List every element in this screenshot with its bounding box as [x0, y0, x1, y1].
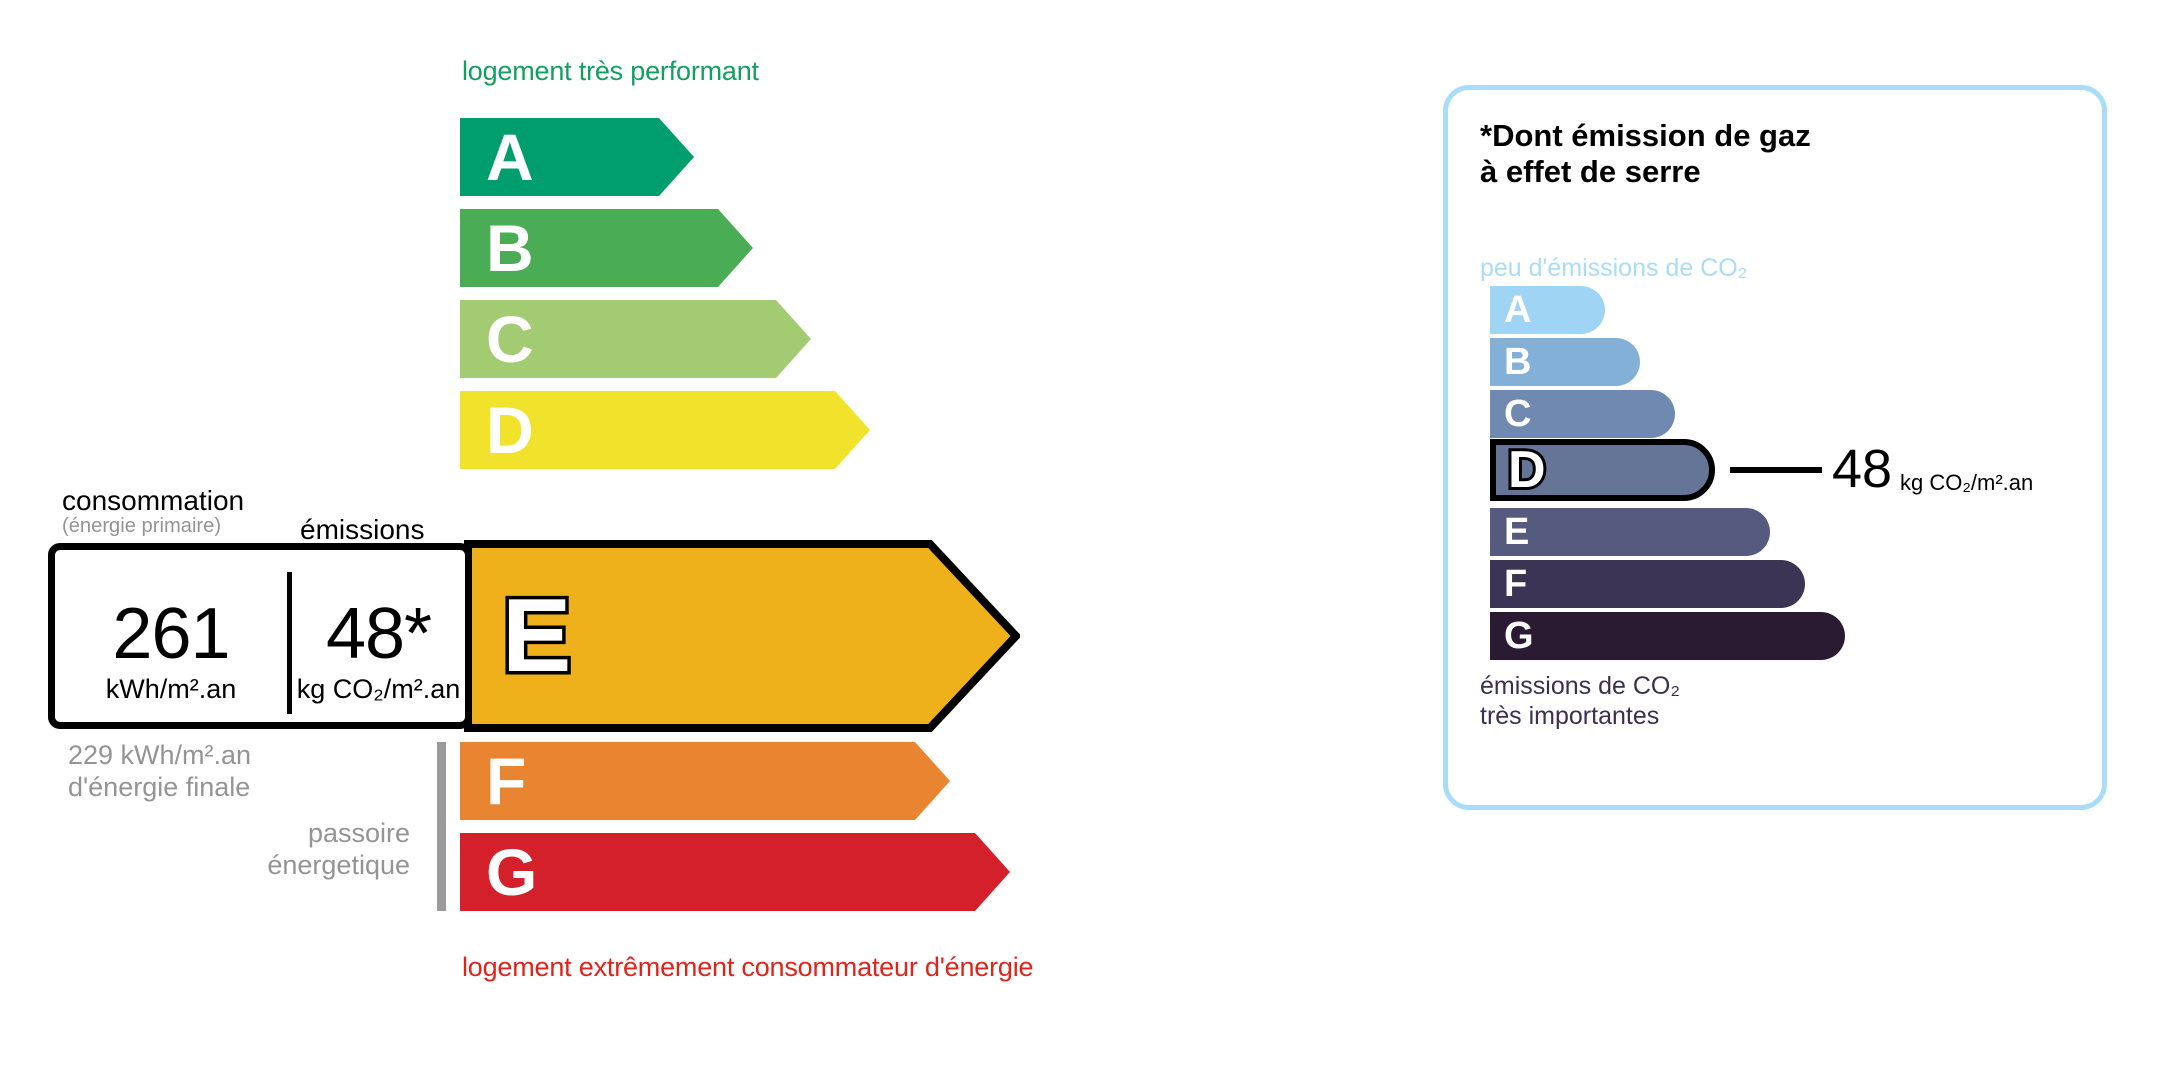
- passoire-line2: énergetique: [180, 850, 410, 882]
- energy-band-g: G: [460, 833, 1010, 911]
- energy-band-d: D: [460, 391, 870, 469]
- value-box-primary-energy: 261 kWh/m².an: [55, 550, 287, 722]
- co2-panel-title: *Dont émission de gaz à effet de serre: [1480, 118, 1811, 190]
- co2-callout-value: 48: [1832, 442, 1892, 496]
- energy-scale-section: logement très performant A B C: [0, 0, 1400, 1079]
- co2-bar-letter-b: B: [1504, 343, 1531, 381]
- final-energy-line1: 229 kWh/m².an: [68, 740, 251, 772]
- co2-title-line2: à effet de serre: [1480, 154, 1811, 190]
- co2-bar-letter-e: E: [1504, 513, 1529, 551]
- energy-band-c: C: [460, 300, 811, 378]
- co2-title-line1: *Dont émission de gaz: [1480, 118, 1811, 154]
- co2-bar-letter-f: F: [1504, 565, 1527, 603]
- passoire-label: passoire énergetique: [180, 818, 410, 882]
- primary-energy-value: 261: [55, 598, 287, 670]
- energy-band-letter-c: C: [486, 306, 534, 372]
- co2-bar-g: G: [1490, 612, 1845, 660]
- value-box-emissions: 48* kg CO₂/m².an: [292, 550, 465, 722]
- co2-bottom-caption-line2: très importantes: [1480, 702, 1680, 732]
- co2-panel: *Dont émission de gaz à effet de serre p…: [1443, 85, 2107, 810]
- energy-band-letter-e: E: [502, 584, 571, 688]
- energy-band-letter-g: G: [486, 839, 537, 905]
- co2-bar-d-selected: D: [1490, 439, 1715, 501]
- co2-bar-letter-c: C: [1504, 395, 1531, 433]
- passoire-indicator-bar: [437, 742, 446, 911]
- emissions-unit: kg CO₂/m².an: [292, 676, 465, 703]
- co2-bar-a: A: [1490, 286, 1605, 334]
- energy-band-e-selected: E: [464, 540, 1020, 732]
- energy-top-caption: logement très performant: [462, 56, 759, 87]
- energy-band-f: F: [460, 742, 950, 820]
- emissions-label: émissions: [300, 514, 424, 546]
- energy-band-b: B: [460, 209, 753, 287]
- final-energy-line2: d'énergie finale: [68, 772, 251, 804]
- energy-band-letter-a: A: [486, 124, 534, 190]
- co2-bar-letter-d: D: [1508, 444, 1546, 496]
- final-energy-label: 229 kWh/m².an d'énergie finale: [68, 740, 251, 804]
- co2-top-caption: peu d'émissions de CO₂: [1480, 254, 1747, 283]
- co2-callout-unit: kg CO₂/m².an: [1900, 472, 2033, 494]
- band-arrow-shape-f: [460, 742, 950, 820]
- dpe-label: logement très performant A B C: [0, 0, 2169, 1079]
- passoire-line1: passoire: [180, 818, 410, 850]
- consumption-label-line1: consommation: [62, 485, 244, 516]
- energy-band-letter-f: F: [486, 748, 526, 814]
- co2-bar-b: B: [1490, 338, 1640, 386]
- consumption-label-line2: (énergie primaire): [62, 516, 244, 538]
- co2-bar-letter-a: A: [1504, 291, 1531, 329]
- co2-bottom-caption: émissions de CO₂ très importantes: [1480, 672, 1680, 731]
- value-box: 261 kWh/m².an 48* kg CO₂/m².an: [48, 543, 472, 729]
- band-arrow-shape-g: [460, 833, 1010, 911]
- co2-bottom-caption-line1: émissions de CO₂: [1480, 672, 1680, 702]
- primary-energy-unit: kWh/m².an: [55, 676, 287, 703]
- co2-bar-letter-g: G: [1504, 617, 1534, 655]
- energy-band-letter-d: D: [486, 397, 534, 463]
- consumption-label: consommation (énergie primaire): [62, 486, 244, 538]
- energy-bottom-caption: logement extrêmement consommateur d'éner…: [462, 952, 1033, 983]
- energy-band-a: A: [460, 118, 694, 196]
- co2-callout-line: [1730, 467, 1822, 473]
- co2-bar-c: C: [1490, 390, 1675, 438]
- energy-band-letter-b: B: [486, 215, 534, 281]
- co2-bar-f: F: [1490, 560, 1805, 608]
- emissions-value: 48*: [292, 598, 465, 670]
- co2-bar-e: E: [1490, 508, 1770, 556]
